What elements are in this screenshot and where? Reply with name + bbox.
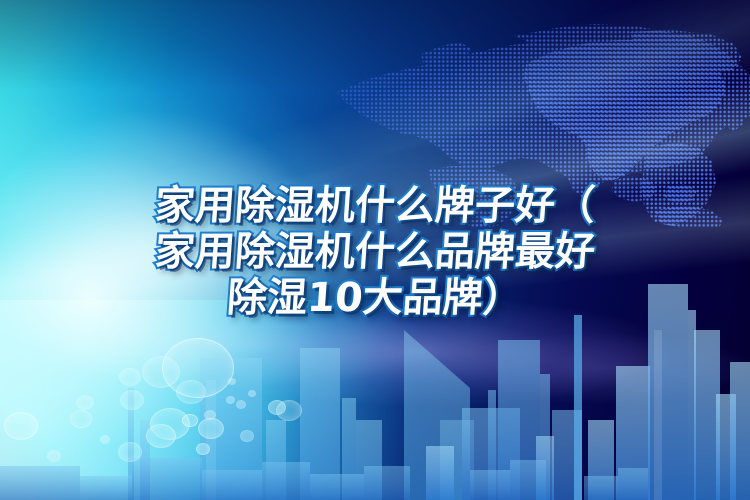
headline-block: 家用除湿机什么牌子好（ 家用除湿机什么品牌最好 除湿10大品牌） xyxy=(0,186,750,324)
banner-image: 家用除湿机什么牌子好（ 家用除湿机什么品牌最好 除湿10大品牌） xyxy=(0,0,750,500)
headline-line-3: 除湿10大品牌） xyxy=(0,278,750,318)
headline-line-2: 家用除湿机什么品牌最好 xyxy=(0,232,750,272)
headline-line-1: 家用除湿机什么牌子好（ xyxy=(0,186,750,226)
